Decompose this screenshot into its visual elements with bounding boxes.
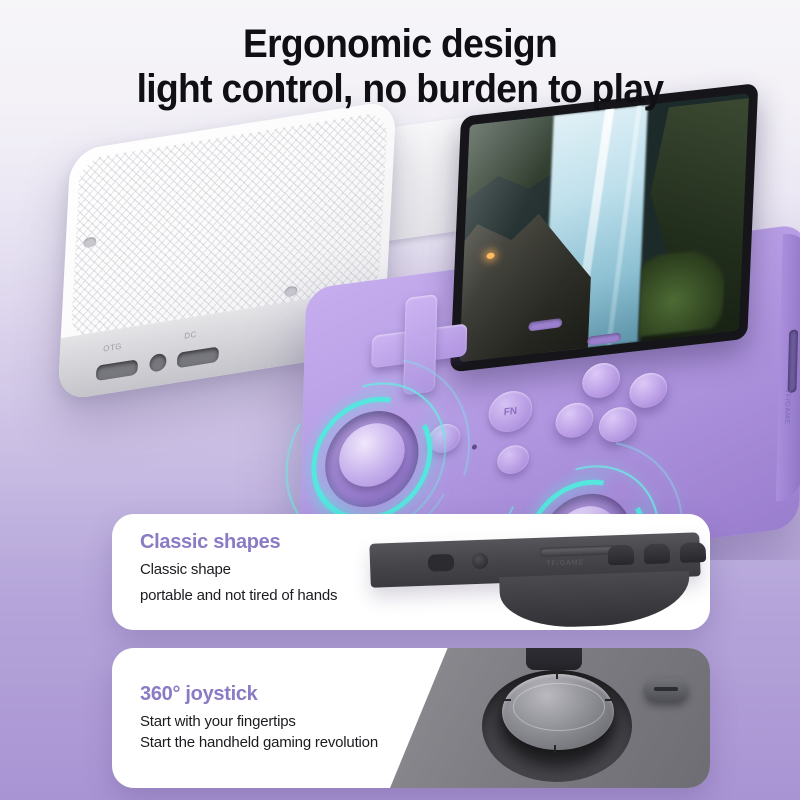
joystick-tick-bottom xyxy=(554,745,556,753)
tf-game-card-slot xyxy=(788,329,799,393)
shoulder-nub-1 xyxy=(608,545,635,566)
power-led-indicator xyxy=(472,444,477,450)
tf-game-slot-label: TF/GAME xyxy=(783,389,791,426)
card-title: Classic shapes xyxy=(140,531,337,554)
power-button xyxy=(428,554,455,572)
joystick-macro-photo xyxy=(390,648,710,788)
card-text-block: 360° joystick Start with your fingertips… xyxy=(140,648,378,788)
face-button-a[interactable] xyxy=(555,401,594,440)
screen-bezel xyxy=(450,83,758,372)
card-text-block: Classic shapes Classic shape portable an… xyxy=(140,514,337,630)
joystick-tick-top xyxy=(556,671,558,679)
console-edge-photo: TF/GAME xyxy=(350,514,710,630)
feature-card-classic-shapes: TF/GAME Classic shapes Classic shape por… xyxy=(112,514,710,630)
joystick-stem xyxy=(526,648,582,670)
tf-game-slot-label: TF/GAME xyxy=(546,559,584,567)
feature-card-360-joystick: 360° joystick Start with your fingertips… xyxy=(112,648,710,788)
joystick-cap xyxy=(502,674,614,750)
tf-card-slot xyxy=(540,545,616,557)
shoulder-nub-2 xyxy=(644,543,671,564)
headphone-jack-icon xyxy=(472,553,489,570)
game-screen xyxy=(459,93,749,362)
card-title: 360° joystick xyxy=(140,683,378,706)
card-line-1: Start with your fingertips xyxy=(140,712,378,732)
joystick-tick-right xyxy=(605,699,613,701)
shoulder-nub-3 xyxy=(679,542,706,563)
screen-glare xyxy=(459,93,749,362)
joystick-tick-left xyxy=(503,699,511,701)
card-line-2: Start the handheld gaming revolution xyxy=(140,733,378,753)
face-button-b[interactable] xyxy=(598,405,637,444)
card-line-1: Classic shape xyxy=(140,561,337,578)
console-grip-curve xyxy=(499,571,691,630)
face-button-y[interactable] xyxy=(582,361,621,400)
card-line-2: portable and not tired of hands xyxy=(140,587,337,604)
fn-button[interactable]: FN xyxy=(488,388,533,434)
face-button-x[interactable] xyxy=(629,371,668,410)
function-button xyxy=(644,678,688,702)
hero-product-scene: OTG DC TF/GAME xyxy=(0,0,800,560)
